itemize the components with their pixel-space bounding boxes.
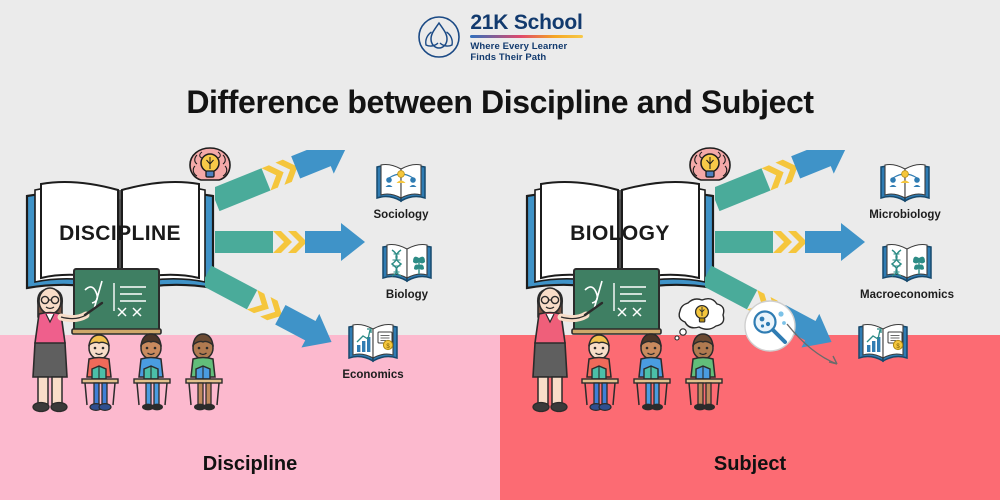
book-dna-leaf-icon <box>380 238 434 286</box>
curved-connector-arrow <box>785 320 865 380</box>
brand-tagline-line2: Finds Their Path <box>470 52 546 63</box>
footer-label-discipline: Discipline <box>0 453 500 476</box>
classroom-teacher-students-icon <box>514 265 744 425</box>
left-branch-economics[interactable]: $ Economics <box>318 318 428 381</box>
right-panel: BIOLOGY <box>500 130 1000 430</box>
right-branch-macroeconomics[interactable]: Macroeconomics <box>852 238 962 301</box>
right-classroom-scene <box>514 265 744 425</box>
infographic-canvas: 21K School Where Every Learner Finds The… <box>0 0 1000 500</box>
left-panel: DISCIPLINE <box>0 130 500 430</box>
book-chart-coin-icon: $ <box>346 318 400 366</box>
book-dna-leaf-icon <box>880 238 934 286</box>
book-people-network-icon <box>878 158 932 206</box>
brand-tagline-line1: Where Every Learner <box>470 41 567 52</box>
brand-gradient-rule <box>470 35 582 38</box>
brand-tagline: Where Every Learner Finds Their Path <box>470 41 582 63</box>
left-branch-biology[interactable]: Biology <box>352 238 462 301</box>
left-branch-sociology[interactable]: Sociology <box>346 158 456 221</box>
right-branch-microbiology[interactable]: Microbiology <box>850 158 960 221</box>
footer-label-subject: Subject <box>500 453 1000 476</box>
left-branch-label-2: Biology <box>352 289 462 301</box>
right-branch-label-2: Macroeconomics <box>852 289 962 301</box>
book-people-network-icon <box>374 158 428 206</box>
page-title: Difference between Discipline and Subjec… <box>0 84 1000 121</box>
brand-logo[interactable]: 21K School Where Every Learner Finds The… <box>0 12 1000 63</box>
right-branch-label-1: Microbiology <box>850 209 960 221</box>
lotus-circle-icon <box>417 15 461 59</box>
left-branch-label-1: Sociology <box>346 209 456 221</box>
brand-name: 21K School <box>470 12 582 33</box>
left-classroom-scene <box>14 265 244 425</box>
classroom-teacher-students-icon <box>14 265 244 425</box>
left-branch-label-3: Economics <box>318 369 428 381</box>
